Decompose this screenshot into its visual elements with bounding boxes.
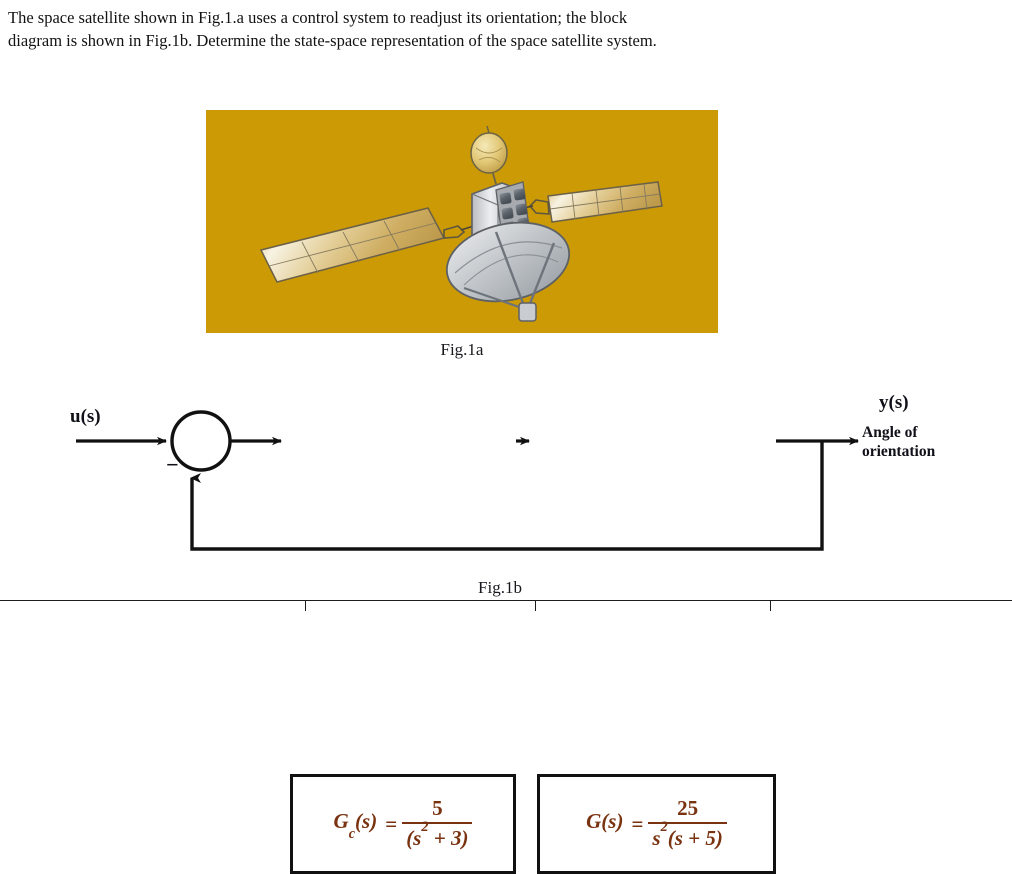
plant-denominator: s2(s + 5) — [648, 822, 726, 851]
input-label: u(s) — [70, 406, 101, 428]
satellite-illustration — [206, 110, 718, 333]
controller-denominator: (s2 + 3) — [402, 822, 472, 851]
problem-line-1: The space satellite shown in Fig.1.a use… — [8, 8, 627, 27]
output-description-line-1: Angle of — [862, 424, 918, 441]
controller-transfer-function: Gc(s) = 5 (s2 + 3) — [334, 797, 473, 850]
output-description: Angle of orientation — [862, 424, 972, 462]
negative-feedback-sign: − — [166, 452, 179, 478]
problem-statement: The space satellite shown in Fig.1.a use… — [8, 6, 1004, 53]
controller-block: Gc(s) = 5 (s2 + 3) — [290, 774, 516, 874]
output-description-line-2: orientation — [862, 443, 935, 460]
summing-junction — [172, 412, 230, 470]
plant-block: G(s) = 25 s2(s + 5) — [537, 774, 776, 874]
block-diagram-lines — [0, 378, 1012, 578]
output-label: y(s) — [879, 392, 909, 414]
figure-1b-block-diagram: Gc(s) = 5 (s2 + 3) G(s) = 25 s2(s + 5) — [0, 378, 1012, 578]
bottom-table-border — [0, 600, 1012, 611]
controller-numerator: 5 — [426, 797, 449, 822]
figure-1a-image — [206, 110, 718, 333]
figure-background — [206, 110, 718, 333]
problem-line-2: diagram is shown in Fig.1b. Determine th… — [8, 29, 1004, 52]
plant-transfer-function: G(s) = 25 s2(s + 5) — [586, 797, 727, 850]
figure-1a-caption: Fig.1a — [206, 340, 718, 360]
figure-1b-caption: Fig.1b — [380, 578, 620, 598]
feedback-path — [192, 441, 822, 549]
plant-numerator: 25 — [671, 797, 704, 822]
